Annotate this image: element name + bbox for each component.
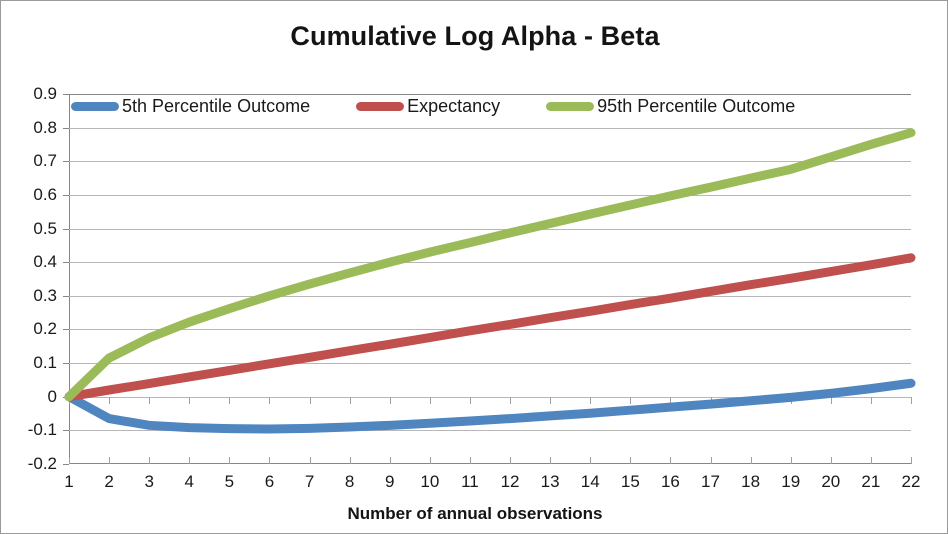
x-axis-label: 15 — [621, 472, 640, 492]
x-axis-label: 4 — [185, 472, 194, 492]
y-axis-label: -0.1 — [13, 420, 57, 440]
x-axis-label: 17 — [701, 472, 720, 492]
x-axis-label: 10 — [420, 472, 439, 492]
x-axis-label: 12 — [501, 472, 520, 492]
x-axis-label: 22 — [902, 472, 921, 492]
x-axis-label: 18 — [741, 472, 760, 492]
x-axis-label: 7 — [305, 472, 314, 492]
series-line — [69, 383, 911, 429]
y-axis-label: 0.6 — [13, 185, 57, 205]
y-axis-label: 0 — [13, 387, 57, 407]
y-axis-label: 0.8 — [13, 118, 57, 138]
x-axis-label: 5 — [225, 472, 234, 492]
x-axis-label: 13 — [541, 472, 560, 492]
x-axis-label: 14 — [581, 472, 600, 492]
y-axis-label: 0.3 — [13, 286, 57, 306]
y-axis-label: 0.9 — [13, 84, 57, 104]
x-axis-label: 3 — [144, 472, 153, 492]
y-axis-label: 0.4 — [13, 252, 57, 272]
series-line — [69, 133, 911, 397]
chart-title: Cumulative Log Alpha - Beta — [1, 21, 948, 52]
series-line — [69, 258, 911, 397]
x-axis-label: 6 — [265, 472, 274, 492]
chart-container: Cumulative Log Alpha - Beta 5th Percenti… — [0, 0, 948, 534]
x-axis-label: 20 — [821, 472, 840, 492]
x-axis-label: 11 — [461, 472, 479, 492]
y-axis-label: 0.5 — [13, 219, 57, 239]
y-axis-label: -0.2 — [13, 454, 57, 474]
x-axis-label: 9 — [385, 472, 394, 492]
y-axis-label: 0.2 — [13, 319, 57, 339]
x-axis-tick — [911, 397, 912, 404]
plot-area — [69, 94, 911, 464]
x-axis-label: 16 — [661, 472, 680, 492]
x-axis-label: 2 — [104, 472, 113, 492]
x-axis-label: 8 — [345, 472, 354, 492]
x-axis-label: 21 — [861, 472, 880, 492]
x-axis-title: Number of annual observations — [1, 504, 948, 524]
series-lines — [69, 94, 911, 464]
x-axis-tick-bottom — [911, 457, 912, 464]
y-axis-tick — [63, 464, 69, 465]
y-axis-label: 0.1 — [13, 353, 57, 373]
y-axis-label: 0.7 — [13, 151, 57, 171]
x-axis-label: 19 — [781, 472, 800, 492]
x-axis-label: 1 — [64, 472, 73, 492]
